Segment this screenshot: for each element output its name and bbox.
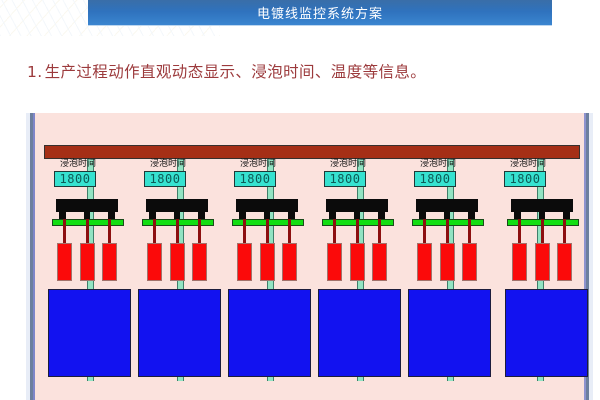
plating-tank[interactable] xyxy=(48,289,131,377)
hoist-head xyxy=(416,199,478,212)
hoist-head xyxy=(146,199,208,212)
hanger-rod xyxy=(378,219,381,245)
station-2[interactable]: 浸泡时间 1800 xyxy=(136,113,228,400)
station-6[interactable]: 浸泡时间 1800 xyxy=(496,113,588,400)
workpiece xyxy=(327,243,342,281)
workpiece xyxy=(170,243,185,281)
workpiece xyxy=(350,243,365,281)
plating-tank[interactable] xyxy=(138,289,221,377)
workpiece xyxy=(57,243,72,281)
soak-time-label: 浸泡时间 xyxy=(408,159,468,170)
workpiece xyxy=(80,243,95,281)
workpiece xyxy=(417,243,432,281)
soak-time-value[interactable]: 1800 xyxy=(324,171,366,187)
hanger-rod xyxy=(176,219,179,245)
station-3[interactable]: 浸泡时间 1800 xyxy=(226,113,318,400)
soak-time-label: 浸泡时间 xyxy=(318,159,378,170)
station-4[interactable]: 浸泡时间 1800 xyxy=(316,113,408,400)
panel-right-outer-rail xyxy=(589,113,593,400)
workpiece xyxy=(102,243,117,281)
hoist-head xyxy=(56,199,118,212)
page-title: 电镀线监控系统方案 xyxy=(257,3,383,22)
workpiece xyxy=(512,243,527,281)
hanger-rod xyxy=(86,219,89,245)
hanger-rod xyxy=(108,219,111,245)
hanger-rod xyxy=(356,219,359,245)
hanger-rod xyxy=(518,219,521,245)
workpiece xyxy=(557,243,572,281)
hanger-rod xyxy=(333,219,336,245)
soak-time-label: 浸泡时间 xyxy=(228,159,288,170)
station-1[interactable]: 浸泡时间 1800 xyxy=(46,113,138,400)
plating-tank[interactable] xyxy=(505,289,588,377)
workpiece xyxy=(237,243,252,281)
plating-tank[interactable] xyxy=(408,289,491,377)
workpiece xyxy=(462,243,477,281)
soak-time-label: 浸泡时间 xyxy=(138,159,198,170)
soak-time-value[interactable]: 1800 xyxy=(504,171,546,187)
hanger-rod xyxy=(243,219,246,245)
workpiece xyxy=(147,243,162,281)
soak-time-label: 浸泡时间 xyxy=(498,159,558,170)
section-heading: 1.生产过程动作直观动态显示、浸泡时间、温度等信息。 xyxy=(27,60,426,82)
hanger-rod xyxy=(153,219,156,245)
hanger-rod xyxy=(541,219,544,245)
hanger-rod xyxy=(288,219,291,245)
workpiece xyxy=(260,243,275,281)
hanger-rod xyxy=(423,219,426,245)
hanger-rod xyxy=(198,219,201,245)
station-5[interactable]: 浸泡时间 1800 xyxy=(406,113,498,400)
hoist-head xyxy=(511,199,573,212)
heading-text: 生产过程动作直观动态显示、浸泡时间、温度等信息。 xyxy=(45,63,427,81)
panel-left-accent-rail xyxy=(33,113,35,400)
workpiece xyxy=(282,243,297,281)
soak-time-value[interactable]: 1800 xyxy=(234,171,276,187)
soak-time-value[interactable]: 1800 xyxy=(144,171,186,187)
hanger-rod xyxy=(266,219,269,245)
hanger-rod xyxy=(468,219,471,245)
soak-time-label: 浸泡时间 xyxy=(48,159,108,170)
hanger-rod xyxy=(563,219,566,245)
workpiece xyxy=(372,243,387,281)
plating-tank[interactable] xyxy=(318,289,401,377)
hoist-head xyxy=(326,199,388,212)
workpiece xyxy=(440,243,455,281)
soak-time-value[interactable]: 1800 xyxy=(414,171,456,187)
hoist-head xyxy=(236,199,298,212)
heading-number: 1. xyxy=(27,63,43,81)
workpiece xyxy=(192,243,207,281)
soak-time-value[interactable]: 1800 xyxy=(54,171,96,187)
hanger-rod xyxy=(446,219,449,245)
hanger-rod xyxy=(63,219,66,245)
plating-tank[interactable] xyxy=(228,289,311,377)
plating-line-hmi-panel: 浸泡时间 1800 浸泡时间 1800 浸泡时间 1800 xyxy=(26,113,593,400)
workpiece xyxy=(535,243,550,281)
slide-title-bar: 电镀线监控系统方案 xyxy=(88,0,552,25)
